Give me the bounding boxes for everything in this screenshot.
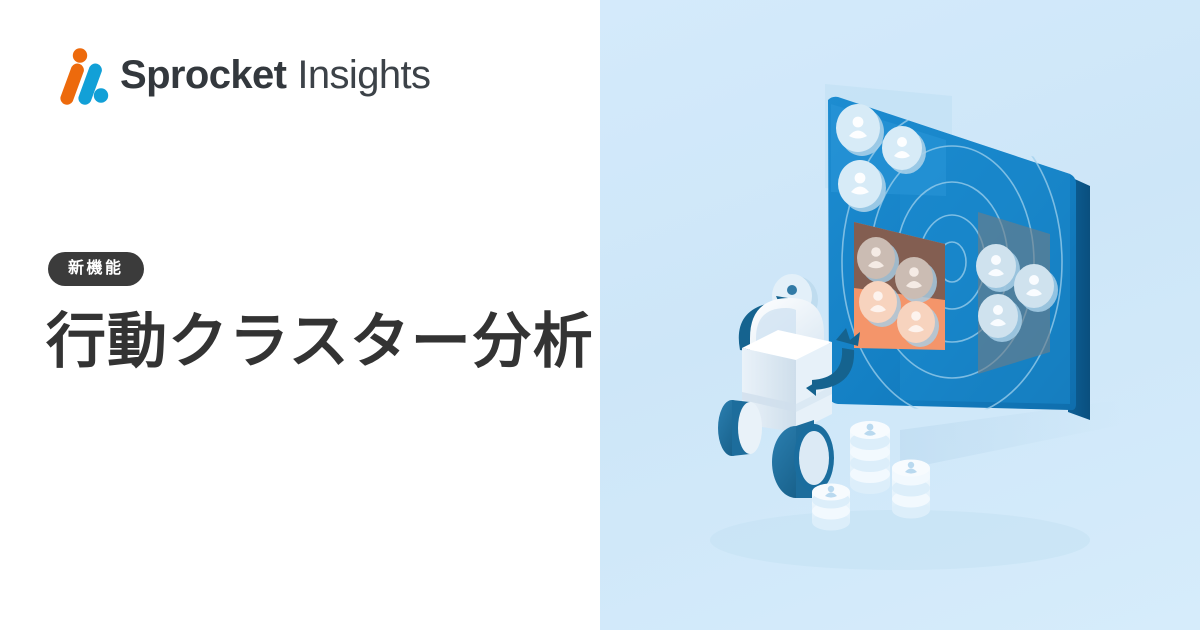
cluster-panel-orange: [854, 222, 945, 350]
brand-wordmark: Sprocket Insights: [120, 55, 430, 95]
coin-stack: [812, 484, 850, 531]
brand-logo[interactable]: Sprocket Insights: [48, 44, 430, 106]
text-panel: Sprocket Insights 新機能 行動クラスター分析: [0, 0, 600, 630]
coin-stack: [850, 421, 890, 494]
illustration-panel: [600, 0, 1200, 630]
status-badge: 新機能: [48, 252, 144, 286]
status-badge-label: 新機能: [68, 261, 124, 277]
promo-banner: Sprocket Insights 新機能 行動クラスター分析: [0, 0, 1200, 630]
coin-stack: [892, 460, 930, 519]
page-title: 行動クラスター分析: [46, 305, 586, 378]
cluster-panel-gray: [976, 212, 1058, 374]
brand-word-primary: Sprocket: [120, 55, 286, 95]
brand-word-secondary: Insights: [297, 55, 430, 95]
behavioral-cluster-illustration: [600, 0, 1200, 630]
ground-shadow: [710, 510, 1090, 570]
sprocket-insights-logomark-icon: [48, 44, 110, 106]
robot-wheel-left: [718, 400, 762, 456]
